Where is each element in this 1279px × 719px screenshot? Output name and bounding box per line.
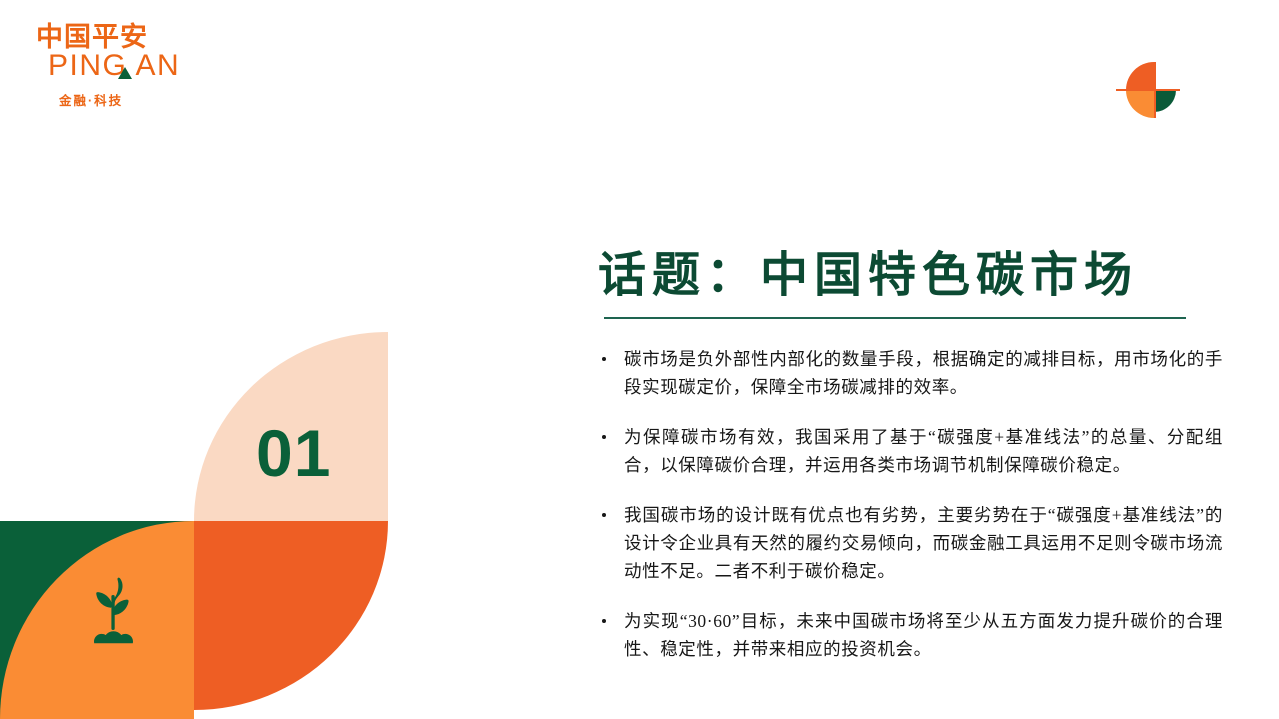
list-item: 为实现“30·60”目标，未来中国碳市场将至少从五方面发力提升碳价的合理性、稳定…	[598, 607, 1223, 664]
list-item: 我国碳市场的设计既有优点也有劣势，主要劣势在于“碳强度+基准线法”的设计令企业具…	[598, 501, 1223, 586]
deep-orange-quarter-disc	[194, 521, 388, 710]
brand-chinese-name: 中国平安	[36, 24, 148, 51]
bullet-list: 碳市场是负外部性内部化的数量手段，根据确定的减排目标，用市场化的手段实现碳定价，…	[598, 345, 1223, 663]
slide-content: 话题：中国特色碳市场 碳市场是负外部性内部化的数量手段，根据确定的减排目标，用市…	[598, 248, 1223, 663]
quadrant-top-left	[1126, 62, 1154, 90]
quadrant-vertical-rule	[1154, 62, 1156, 118]
section-number: 01	[256, 420, 331, 486]
quadrant-horizontal-rule	[1116, 89, 1180, 91]
list-item: 碳市场是负外部性内部化的数量手段，根据确定的减排目标，用市场化的手段实现碳定价，…	[598, 345, 1223, 402]
section-decoration: 01	[0, 320, 400, 719]
quadrant-circle-mark-icon	[1110, 62, 1182, 118]
quadrant-bottom-right	[1154, 90, 1176, 112]
triangle-accent-icon	[118, 67, 132, 79]
brand-logo: 中国平安 PING AN 金融·科技	[36, 24, 296, 84]
brand-english-name: PING AN	[48, 49, 180, 82]
quadrant-bottom-left	[1126, 90, 1154, 118]
list-item: 为保障碳市场有效，我国采用了基于“碳强度+基准线法”的总量、分配组合，以保障碳价…	[598, 423, 1223, 480]
seedling-icon	[82, 575, 144, 647]
brand-english-lockup: PING AN	[48, 51, 180, 81]
brand-tagline: 金融·科技	[59, 90, 296, 109]
title-underline	[604, 317, 1186, 320]
page-title: 话题：中国特色碳市场	[598, 248, 1223, 305]
